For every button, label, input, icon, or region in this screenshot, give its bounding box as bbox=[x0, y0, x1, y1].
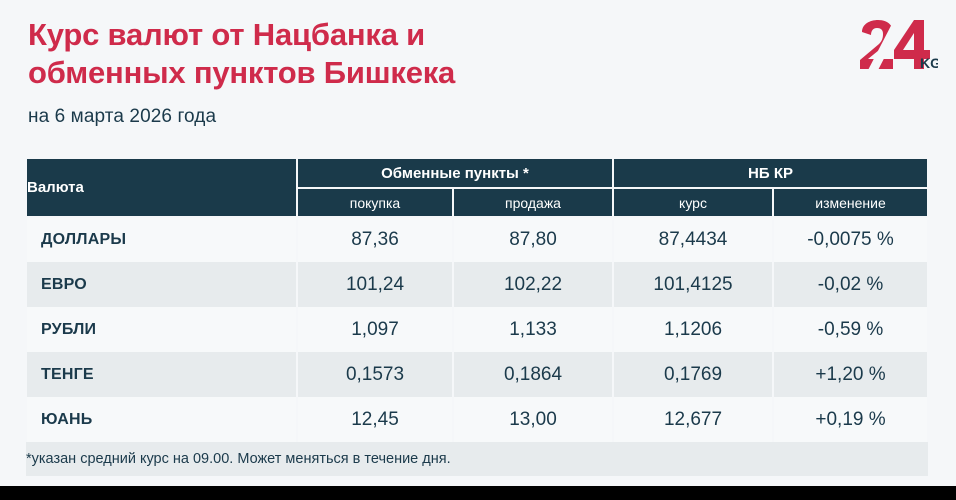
page-subtitle-date: на 6 марта 2026 года bbox=[28, 106, 928, 128]
cell-buy: 0,1573 bbox=[297, 352, 453, 397]
cell-rate: 12,677 bbox=[613, 397, 773, 442]
cell-sell: 87,80 bbox=[453, 217, 613, 262]
cell-currency: ЕВРО bbox=[26, 262, 297, 307]
table-body: ДОЛЛАРЫ 87,36 87,80 87,4434 -0,0075 % ЕВ… bbox=[26, 217, 928, 476]
column-group-header-exchange-points: Обменные пункты * bbox=[297, 158, 613, 188]
cell-buy: 1,097 bbox=[297, 307, 453, 352]
table-row: ЕВРО 101,24 102,22 101,4125 -0,02 % bbox=[26, 262, 928, 307]
column-group-header-nbkr: НБ КР bbox=[613, 158, 928, 188]
cell-currency: РУБЛИ bbox=[26, 307, 297, 352]
bottom-bar bbox=[0, 486, 956, 500]
cell-currency: ЮАНЬ bbox=[26, 397, 297, 442]
cell-rate: 87,4434 bbox=[613, 217, 773, 262]
logo-mark-icon: KG bbox=[858, 20, 938, 72]
page-header: Курс валют от Нацбанка и обменных пункто… bbox=[28, 16, 928, 136]
currency-rates-table: Валюта Обменные пункты * НБ КР покупка п… bbox=[25, 157, 929, 476]
cell-sell: 0,1864 bbox=[453, 352, 613, 397]
column-header-sell: продажа bbox=[453, 188, 613, 217]
cell-buy: 12,45 bbox=[297, 397, 453, 442]
svg-text:KG: KG bbox=[920, 55, 938, 71]
cell-currency: ДОЛЛАРЫ bbox=[26, 217, 297, 262]
table-header: Валюта Обменные пункты * НБ КР покупка п… bbox=[26, 158, 928, 217]
cell-rate: 1,1206 bbox=[613, 307, 773, 352]
table-row: РУБЛИ 1,097 1,133 1,1206 -0,59 % bbox=[26, 307, 928, 352]
cell-sell: 1,133 bbox=[453, 307, 613, 352]
cell-sell: 13,00 bbox=[453, 397, 613, 442]
24-kg-logo[interactable]: KG bbox=[858, 20, 938, 72]
table-footnote-row: *указан средний курс на 09.00. Может мен… bbox=[26, 442, 928, 476]
page-title: Курс валют от Нацбанка и обменных пункто… bbox=[28, 16, 648, 92]
column-header-rate: курс bbox=[613, 188, 773, 217]
column-header-buy: покупка bbox=[297, 188, 453, 217]
table-row: ТЕНГЕ 0,1573 0,1864 0,1769 +1,20 % bbox=[26, 352, 928, 397]
cell-change: +0,19 % bbox=[773, 397, 928, 442]
cell-change: -0,0075 % bbox=[773, 217, 928, 262]
cell-rate: 101,4125 bbox=[613, 262, 773, 307]
table-header-row-groups: Валюта Обменные пункты * НБ КР bbox=[26, 158, 928, 188]
column-header-currency: Валюта bbox=[26, 158, 297, 217]
cell-rate: 0,1769 bbox=[613, 352, 773, 397]
table-row: ЮАНЬ 12,45 13,00 12,677 +0,19 % bbox=[26, 397, 928, 442]
table-footnote: *указан средний курс на 09.00. Может мен… bbox=[26, 442, 928, 476]
column-header-change: изменение bbox=[773, 188, 928, 217]
cell-buy: 101,24 bbox=[297, 262, 453, 307]
cell-change: -0,02 % bbox=[773, 262, 928, 307]
cell-change: +1,20 % bbox=[773, 352, 928, 397]
cell-change: -0,59 % bbox=[773, 307, 928, 352]
cell-buy: 87,36 bbox=[297, 217, 453, 262]
cell-currency: ТЕНГЕ bbox=[26, 352, 297, 397]
table-row: ДОЛЛАРЫ 87,36 87,80 87,4434 -0,0075 % bbox=[26, 217, 928, 262]
cell-sell: 102,22 bbox=[453, 262, 613, 307]
